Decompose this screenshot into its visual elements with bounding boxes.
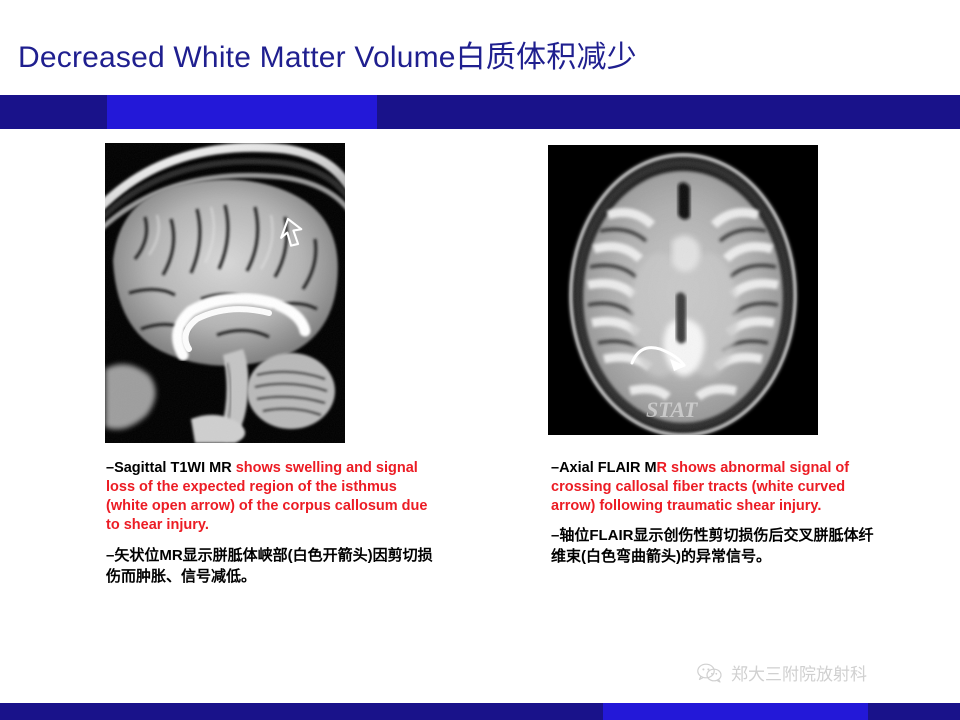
sagittal-mri-image bbox=[105, 143, 345, 443]
wechat-icon bbox=[697, 663, 723, 683]
header-band-accent bbox=[107, 95, 377, 129]
caption-right-english: –Axial FLAIR MR shows abnormal signal of… bbox=[551, 459, 881, 516]
watermark: 郑大三附院放射科 bbox=[697, 660, 867, 685]
axial-mri-figure: STAT bbox=[548, 145, 818, 435]
caption-left: –Sagittal T1WI MR shows swelling and sig… bbox=[106, 459, 436, 587]
caption-right-chinese: –轴位FLAIR显示创伤性剪切损伤后交叉胼胝体纤维束(白色弯曲箭头)的异常信号。 bbox=[551, 525, 881, 567]
sagittal-mri-figure bbox=[105, 143, 345, 443]
page-title: Decreased White Matter Volume白质体积减少 bbox=[18, 32, 637, 76]
caption-right-english-lead: –Axial FLAIR M bbox=[551, 460, 657, 476]
caption-left-english: –Sagittal T1WI MR shows swelling and sig… bbox=[106, 459, 436, 536]
caption-left-chinese: –矢状位MR显示胼胝体峡部(白色开箭头)因剪切损伤而肿胀、信号减低。 bbox=[106, 545, 436, 587]
footer-band-accent bbox=[603, 703, 868, 720]
caption-right: –Axial FLAIR MR shows abnormal signal of… bbox=[551, 459, 881, 567]
stat-overlay-text: STAT bbox=[646, 397, 699, 422]
watermark-label: 郑大三附院放射科 bbox=[731, 660, 867, 685]
axial-mri-image: STAT bbox=[548, 145, 818, 435]
caption-left-english-lead: –Sagittal T1WI MR bbox=[106, 460, 236, 476]
